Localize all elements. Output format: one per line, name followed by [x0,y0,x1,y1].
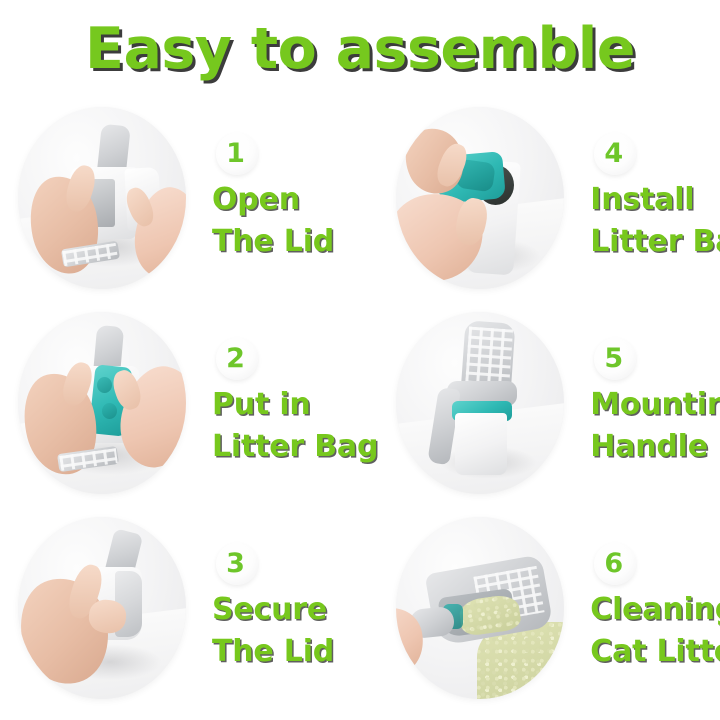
step-label-line2: Litter Bags [590,221,720,262]
step-number: 1 [226,140,248,169]
step-photo-3 [18,517,186,699]
page-title: Easy to assemble [85,21,635,78]
step-photo-6 [396,517,564,699]
step-number: 3 [226,550,248,579]
step-number: 5 [604,345,626,374]
step-label-line1: Cleaning [590,589,720,630]
step-label-line1: Secure [212,589,334,630]
step-label-line2: The Lid [212,221,334,262]
header: Easy to assemble [0,0,720,95]
step-number: 4 [604,140,626,169]
step-badge-3: 3 [216,543,258,585]
step-badge-6: 6 [594,543,636,585]
step-label-line1: Open [212,179,334,220]
step-item-3: 3 Secure The Lid [0,505,378,710]
step-label-line2: Handle [590,426,720,467]
step-badge-1: 1 [216,133,258,175]
step-badge-4: 4 [594,133,636,175]
step-photo-4 [396,107,564,289]
step-item-5: 5 Mounting Handle [378,300,720,505]
step-copy-2: 2 Put in Litter Bag [212,338,378,467]
step-photo-5 [396,312,564,494]
step-label-line2: Cat Litter [590,631,720,672]
step-label-line1: Mounting [590,384,720,425]
step-photo-2 [18,312,186,494]
step-item-1: 1 Open The Lid [0,95,378,300]
step-copy-3: 3 Secure The Lid [212,543,334,672]
step-item-4: 4 Install Litter Bags [378,95,720,300]
step-copy-4: 4 Install Litter Bags [590,133,720,262]
step-item-2: 2 Put in Litter Bag [0,300,378,505]
step-number: 6 [604,550,626,579]
step-label-line1: Install [590,179,720,220]
step-badge-2: 2 [216,338,258,380]
step-copy-6: 6 Cleaning Cat Litter [590,543,720,672]
step-photo-1 [18,107,186,289]
step-copy-1: 1 Open The Lid [212,133,334,262]
step-badge-5: 5 [594,338,636,380]
steps-grid: 1 Open The Lid [0,95,720,715]
step-copy-5: 5 Mounting Handle [590,338,720,467]
step-label-line1: Put in [212,384,378,425]
step-label-line2: Litter Bag [212,426,378,467]
step-label-line2: The Lid [212,631,334,672]
step-number: 2 [226,345,248,374]
step-item-6: 6 Cleaning Cat Litter [378,505,720,710]
